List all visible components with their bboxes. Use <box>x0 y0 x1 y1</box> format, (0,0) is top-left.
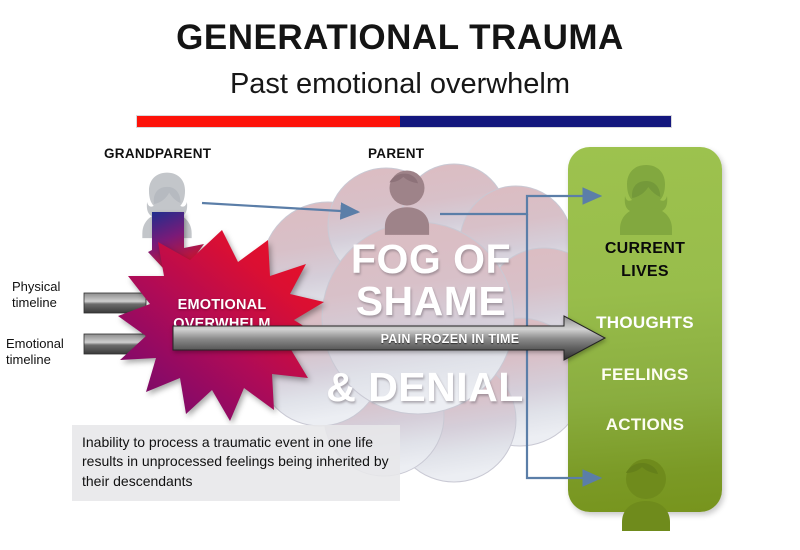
label-emotional-timeline: Emotional timeline <box>6 336 64 369</box>
connector-parent-to-panel-top <box>440 196 600 214</box>
parent-male-person-icon <box>372 168 442 230</box>
fog-text-line3: & DENIAL <box>280 364 570 411</box>
connector-grandparent-to-parent <box>202 203 358 212</box>
label-grandparent: GRANDPARENT <box>104 146 211 161</box>
pain-frozen-arrow-label: PAIN FROZEN IN TIME <box>330 332 570 346</box>
physical-timeline-line2: timeline <box>12 295 57 310</box>
emotional-timeline-line1: Emotional <box>6 336 64 351</box>
label-physical-timeline: Physical timeline <box>12 279 60 312</box>
starburst-line1: EMOTIONAL <box>178 297 267 313</box>
explanatory-caption: Inability to process a traumatic event i… <box>72 425 400 501</box>
label-parent: PARENT <box>368 146 424 161</box>
diagram-canvas: GENERATIONAL TRAUMA Past emotional overw… <box>0 0 800 550</box>
fog-text-line1: FOG OF <box>286 236 576 283</box>
emotional-timeline-line2: timeline <box>6 352 51 367</box>
physical-timeline-line1: Physical <box>12 279 60 294</box>
